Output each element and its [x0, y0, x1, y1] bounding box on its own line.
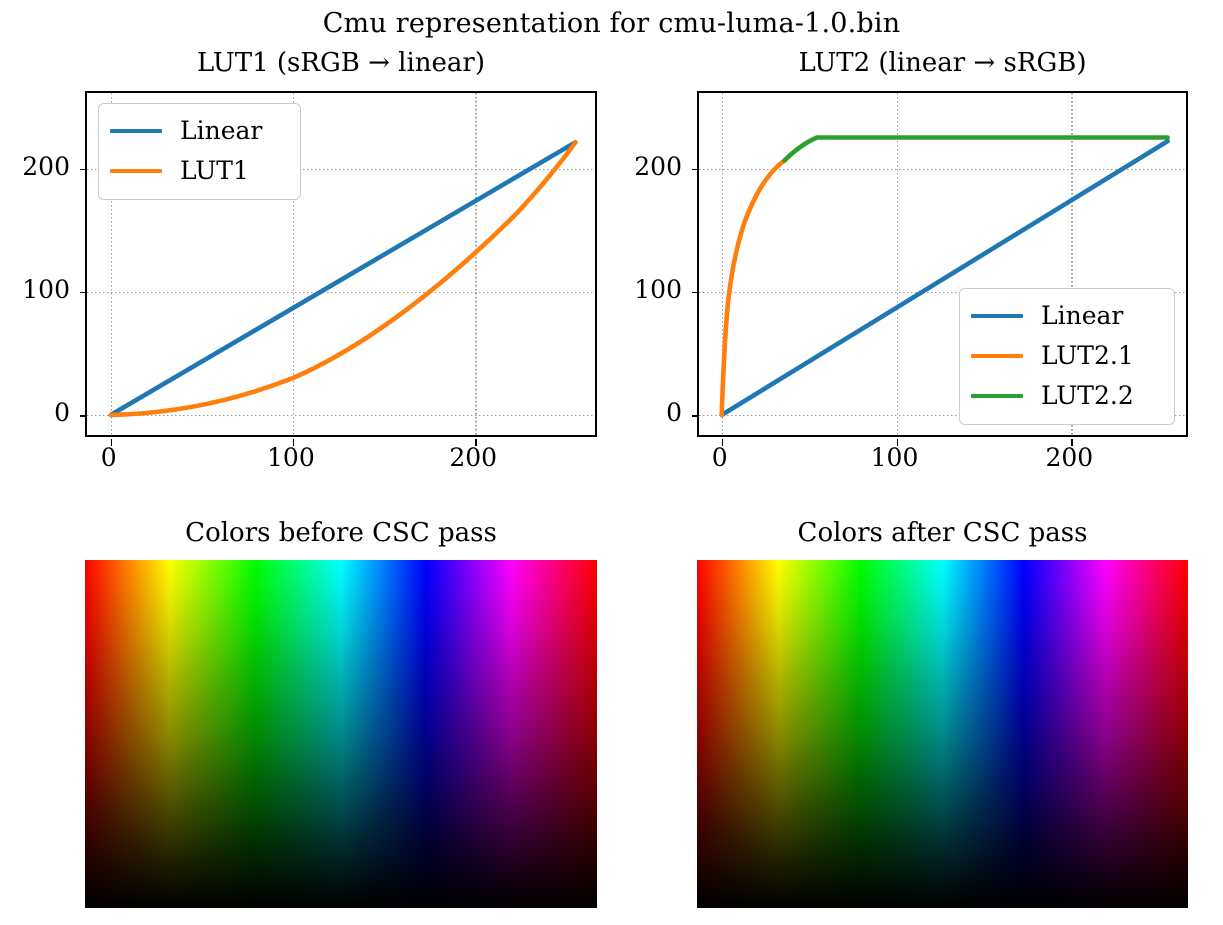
- lut2-axes: Linear LUT2.1 LUT2.2: [697, 91, 1188, 437]
- lut2-series-lut2p1: [722, 161, 785, 416]
- lut2-legend-entry-lut2p2[interactable]: LUT2.2: [971, 376, 1163, 416]
- lut2-yticklabel-0: 0: [620, 399, 682, 427]
- lut2-legend-label-linear: Linear: [1041, 303, 1123, 329]
- lut2-xticklabel-0: 0: [712, 444, 728, 472]
- figure-suptitle: Cmu representation for cmu-luma-1.0.bin: [0, 8, 1223, 40]
- lut2-ytick-200: [692, 169, 699, 171]
- before-csc-image: [85, 560, 597, 908]
- lut2-plot-area: Linear LUT2.1 LUT2.2: [699, 93, 1186, 435]
- lut1-legend[interactable]: Linear LUT1: [98, 103, 301, 200]
- lut2-axes-title: LUT2 (linear → sRGB): [697, 48, 1188, 78]
- lut1-ytick-100: [80, 292, 87, 294]
- lut2-series-lut2p2: [785, 138, 1168, 161]
- lut1-plot-area: Linear LUT1: [87, 93, 595, 435]
- lut2-xticklabel-100: 100: [871, 444, 919, 472]
- lut1-legend-swatch-linear: [110, 129, 162, 134]
- lut2-ytick-0: [692, 415, 699, 417]
- lut1-legend-entry-lut1[interactable]: LUT1: [110, 151, 289, 191]
- figure-canvas: Cmu representation for cmu-luma-1.0.bin …: [0, 0, 1223, 925]
- lut1-xticklabel-0: 0: [101, 444, 117, 472]
- lut1-legend-entry-linear[interactable]: Linear: [110, 111, 289, 151]
- lut1-ytick-200: [80, 169, 87, 171]
- lut2-legend-entry-lut2p1[interactable]: LUT2.1: [971, 336, 1163, 376]
- lut2-ytick-100: [692, 292, 699, 294]
- lut2-legend-swatch-lut2p1: [971, 354, 1023, 359]
- after-csc-title: Colors after CSC pass: [697, 518, 1188, 548]
- lut1-ytick-0: [80, 415, 87, 417]
- lut1-yticklabel-100: 100: [8, 276, 70, 304]
- lut1-axes: Linear LUT1: [85, 91, 597, 437]
- lut2-yticklabel-100: 100: [620, 276, 682, 304]
- lut2-legend-swatch-lut2p2: [971, 394, 1023, 399]
- lut2-legend-entry-linear[interactable]: Linear: [971, 296, 1163, 336]
- lut1-yticklabel-200: 200: [8, 153, 70, 181]
- lut1-legend-label-linear: Linear: [180, 118, 262, 144]
- before-csc-value-gradient: [85, 560, 597, 908]
- lut1-xticklabel-200: 200: [449, 444, 497, 472]
- lut2-legend[interactable]: Linear LUT2.1 LUT2.2: [959, 288, 1175, 425]
- lut2-legend-swatch-linear: [971, 314, 1023, 319]
- lut2-xticklabel-200: 200: [1045, 444, 1093, 472]
- lut2-yticklabel-200: 200: [620, 153, 682, 181]
- lut1-legend-label-lut1: LUT1: [180, 158, 249, 184]
- lut1-yticklabel-0: 0: [8, 399, 70, 427]
- lut1-axes-title: LUT1 (sRGB → linear): [85, 48, 597, 78]
- after-csc-value-gradient: [697, 560, 1188, 908]
- lut2-legend-label-lut2p1: LUT2.1: [1041, 343, 1134, 369]
- after-csc-image: [697, 560, 1188, 908]
- lut2-legend-label-lut2p2: LUT2.2: [1041, 383, 1134, 409]
- before-csc-title: Colors before CSC pass: [85, 518, 597, 548]
- lut1-legend-swatch-lut1: [110, 169, 162, 174]
- lut1-xticklabel-100: 100: [267, 444, 315, 472]
